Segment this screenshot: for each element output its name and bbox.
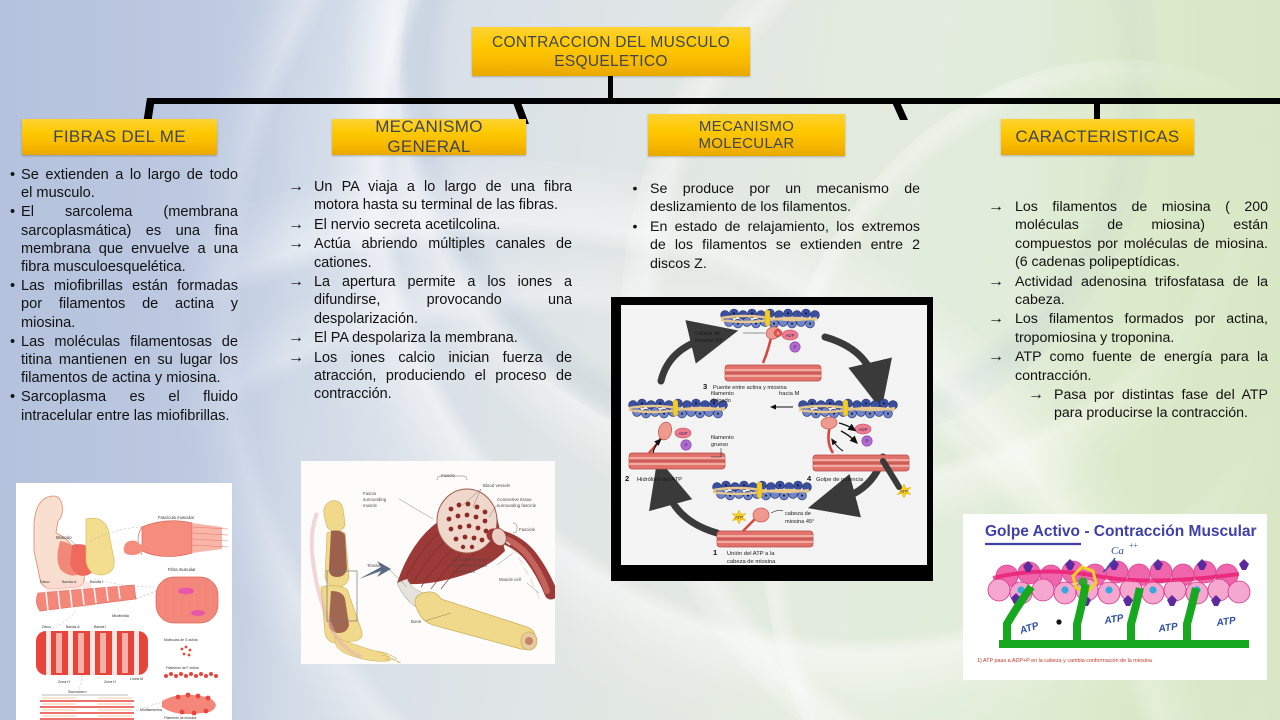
svg-text:++: ++ bbox=[1129, 541, 1139, 550]
arrow-icon: → bbox=[988, 273, 1015, 310]
svg-text:Fibra muscular: Fibra muscular bbox=[168, 567, 196, 572]
figure-cross-bridge-cycle: ATP ADP P A cabeza de miosina 90° 3 Puen… bbox=[611, 297, 933, 581]
svg-text:ADP: ADP bbox=[858, 427, 867, 432]
svg-text:muscle: muscle bbox=[363, 503, 377, 508]
svg-text:Disco: Disco bbox=[42, 625, 51, 629]
svg-text:P: P bbox=[793, 345, 796, 350]
bullet-glyph: • bbox=[620, 180, 650, 217]
svg-text:grueso: grueso bbox=[711, 442, 728, 448]
svg-text:Línea M: Línea M bbox=[130, 677, 143, 681]
list-item: →Los iones calcio inician fuerza de atra… bbox=[288, 349, 572, 404]
bullet-glyph: • bbox=[4, 388, 21, 424]
column-fibras: •Se extienden a lo largo de todo el musc… bbox=[4, 166, 238, 426]
list-item-text: Los filamentos de miosina ( 200 molécula… bbox=[1015, 198, 1268, 272]
bullet-glyph: • bbox=[4, 203, 21, 276]
svg-text:A: A bbox=[777, 331, 780, 336]
bullet-list-mecanismo-molecular: •Se produce por un mecanismo de deslizam… bbox=[620, 180, 920, 273]
branch-header-fibras[interactable]: FIBRAS DEL ME bbox=[22, 119, 217, 155]
svg-text:Músculo: Músculo bbox=[56, 535, 72, 540]
list-item-text: El nervio secreta acetilcolina. bbox=[314, 216, 572, 234]
bullet-list-caracteristicas: →Los filamentos de miosina ( 200 molécul… bbox=[988, 198, 1268, 423]
connector-bus bbox=[148, 98, 1280, 104]
branch-header-mecanismo-molecular-label: MECANISMO MOLECULAR bbox=[698, 118, 794, 152]
svg-text:Fascia: Fascia bbox=[363, 491, 376, 496]
bullet-glyph: • bbox=[620, 218, 650, 273]
bullet-glyph: • bbox=[4, 277, 21, 332]
column-caracteristicas: →Los filamentos de miosina ( 200 molécul… bbox=[988, 198, 1268, 424]
list-item: →Actividad adenosina trifosfatasa de la … bbox=[988, 273, 1268, 310]
list-item: →ATP como fuente de energía para la cont… bbox=[988, 348, 1268, 385]
svg-text:Miofilamentos: Miofilamentos bbox=[140, 708, 162, 712]
list-item-text: Pasa por distintas fase del ATP para pro… bbox=[1054, 386, 1268, 423]
svg-text:Tendon: Tendon bbox=[367, 563, 382, 568]
arrow-icon: → bbox=[988, 198, 1015, 272]
list-item: •Se extienden a lo largo de todo el musc… bbox=[4, 166, 238, 202]
list-item-text: El sarcolema (membrana sarcoplasmática) … bbox=[21, 203, 238, 276]
mecmol-line-1: MECANISMO bbox=[699, 118, 794, 135]
mecmol-line-2: MOLECULAR bbox=[698, 135, 794, 152]
list-item-text: Sarcoplasma es el fluido intracelular en… bbox=[21, 388, 238, 424]
svg-text:Muscle cell: Muscle cell bbox=[499, 577, 521, 582]
arrow-icon: → bbox=[988, 310, 1015, 347]
list-item: •En estado de relajamiento, los extremos… bbox=[620, 218, 920, 273]
svg-text:Miofibrilla: Miofibrilla bbox=[112, 613, 130, 618]
list-item-text: En estado de relajamiento, los extremos … bbox=[650, 218, 920, 273]
list-item: →El nervio secreta acetilcolina. bbox=[288, 216, 572, 234]
svg-text:Connective tissue: Connective tissue bbox=[453, 557, 488, 562]
svg-text:miosina 90°: miosina 90° bbox=[695, 338, 723, 344]
list-item-text: Los iones calcio inician fuerza de atrac… bbox=[314, 349, 572, 404]
list-item-text: Las miofibrillas están formadas por fila… bbox=[21, 277, 238, 332]
arrow-icon: → bbox=[288, 349, 314, 404]
list-item: →La apertura permite a los iones a difun… bbox=[288, 273, 572, 328]
list-item: →Un PA viaja a lo largo de una fibra mot… bbox=[288, 178, 572, 215]
list-item: •El sarcolema (membrana sarcoplasmática)… bbox=[4, 203, 238, 276]
list-item-text: El PA despolariza la membrana. bbox=[314, 329, 572, 347]
svg-text:surrounding each: surrounding each bbox=[453, 563, 487, 568]
list-item-text: Se extienden a lo largo de todo el muscu… bbox=[21, 166, 238, 202]
svg-text:P: P bbox=[684, 443, 687, 448]
svg-text:muscle cell: muscle cell bbox=[453, 569, 475, 574]
list-item-text: La apertura permite a los iones a difund… bbox=[314, 273, 572, 328]
svg-text:ADP: ADP bbox=[678, 431, 687, 436]
list-item: →Los filamentos formados por actina, tro… bbox=[988, 310, 1268, 347]
svg-text:Moléculas de G actina: Moléculas de G actina bbox=[164, 638, 198, 642]
svg-text:Hidrólisis del ATP: Hidrólisis del ATP bbox=[637, 477, 682, 483]
svg-text:Zona H: Zona H bbox=[58, 680, 70, 684]
branch-header-mecanismo-molecular[interactable]: MECANISMO MOLECULAR bbox=[648, 114, 845, 156]
figure-golpe-activo: Golpe Activo - Contracción Muscular bbox=[963, 514, 1267, 680]
list-item: →Actúa abriendo múltiples canales de cat… bbox=[288, 235, 572, 272]
title-text: CONTRACCION DEL MUSCULO ESQUELETICO bbox=[480, 33, 742, 71]
muscle-connective-tissue-diagram: muscle Blood vessels Fasciasurroundingmu… bbox=[301, 461, 555, 664]
list-item-text: Actúa abriendo múltiples canales de cati… bbox=[314, 235, 572, 272]
svg-text:muscle: muscle bbox=[441, 473, 455, 478]
svg-text:delgado: delgado bbox=[711, 398, 731, 404]
svg-text:filamento: filamento bbox=[711, 391, 734, 397]
svg-text:Golpe de potencia: Golpe de potencia bbox=[816, 477, 864, 483]
list-item: →El PA despolariza la membrana. bbox=[288, 329, 572, 347]
bullet-glyph: • bbox=[4, 333, 21, 388]
muscle-organization-diagram: Músculo Fascículo muscular Fibra muscula… bbox=[16, 483, 232, 720]
svg-text:Ca: Ca bbox=[1111, 545, 1124, 557]
cross-bridge-cycle-diagram: ATP ADP P A cabeza de miosina 90° 3 Puen… bbox=[621, 305, 927, 565]
svg-text:Fascículo muscular: Fascículo muscular bbox=[158, 515, 195, 520]
svg-text:P: P bbox=[865, 439, 868, 444]
svg-text:surrounding: surrounding bbox=[363, 497, 387, 502]
column-mecanismo-molecular: •Se produce por un mecanismo de deslizam… bbox=[620, 180, 920, 274]
list-item: •Las miofibrillas están formadas por fil… bbox=[4, 277, 238, 332]
figure-muscle-connective-tissue: muscle Blood vessels Fasciasurroundingmu… bbox=[301, 461, 555, 664]
cross-bridge-inner: ATP ADP P A cabeza de miosina 90° 3 Puen… bbox=[621, 305, 927, 565]
title-box: CONTRACCION DEL MUSCULO ESQUELETICO bbox=[472, 27, 750, 76]
list-item-text: Los filamentos formados por actina, trop… bbox=[1015, 310, 1268, 347]
list-item-text: ATP como fuente de energía para la contr… bbox=[1015, 348, 1268, 385]
arrow-icon: → bbox=[288, 329, 314, 347]
svg-text:miosina 45°: miosina 45° bbox=[785, 519, 814, 525]
svg-text:Zona H: Zona H bbox=[104, 680, 116, 684]
golpe-activo-diagram: Golpe Activo - Contracción Muscular bbox=[963, 514, 1267, 680]
list-item: →Los filamentos de miosina ( 200 molécul… bbox=[988, 198, 1268, 272]
figure-muscle-organization: Músculo Fascículo muscular Fibra muscula… bbox=[16, 483, 232, 720]
list-item-text: Un PA viaja a lo largo de una fibra moto… bbox=[314, 178, 572, 215]
svg-text:Banda A: Banda A bbox=[66, 625, 80, 629]
branch-header-fibras-label: FIBRAS DEL ME bbox=[53, 127, 186, 147]
list-item-text: Se produce por un mecanismo de deslizami… bbox=[650, 180, 920, 217]
bullet-list-fibras: •Se extienden a lo largo de todo el musc… bbox=[4, 166, 238, 425]
list-item: •Las moléculas filamentosas de titina ma… bbox=[4, 333, 238, 388]
svg-text:Connective tissue: Connective tissue bbox=[497, 497, 532, 502]
column-mecanismo-general: →Un PA viaja a lo largo de una fibra mot… bbox=[288, 178, 572, 405]
branch-header-mecanismo-general[interactable]: MECANISMO GENERAL bbox=[332, 119, 526, 155]
svg-text:3: 3 bbox=[703, 382, 707, 391]
list-item: •Se produce por un mecanismo de deslizam… bbox=[620, 180, 920, 217]
arrow-icon: → bbox=[988, 348, 1015, 385]
list-item-text: Actividad adenosina trifosfatasa de la c… bbox=[1015, 273, 1268, 310]
svg-text:Banda A: Banda A bbox=[62, 580, 77, 584]
svg-text:Blood vessels: Blood vessels bbox=[483, 483, 511, 488]
svg-text:Filamento de F actina: Filamento de F actina bbox=[166, 666, 199, 670]
svg-text:Filamento de miosina: Filamento de miosina bbox=[164, 716, 196, 720]
branch-header-caracteristicas[interactable]: CARACTERISTICAS bbox=[1001, 119, 1194, 155]
svg-text:cabeza de: cabeza de bbox=[785, 511, 811, 517]
arrow-icon: → bbox=[288, 178, 314, 215]
list-item: •Sarcoplasma es el fluido intracelular e… bbox=[4, 388, 238, 424]
svg-text:hacia M: hacia M bbox=[779, 391, 799, 397]
svg-text:Fascicle: Fascicle bbox=[519, 527, 536, 532]
list-item-sub: →Pasa por distintas fase del ATP para pr… bbox=[1028, 386, 1268, 423]
branch-header-mecanismo-general-label: MECANISMO GENERAL bbox=[332, 117, 526, 157]
svg-text:surrounding fascicle: surrounding fascicle bbox=[497, 503, 537, 508]
figure-footnote: 1) ATP pasa a ADP+P en la cabeza y cambi… bbox=[977, 658, 1152, 664]
arrow-icon: → bbox=[288, 273, 314, 328]
svg-text:Sarcómero: Sarcómero bbox=[68, 690, 87, 694]
list-item-text: Las moléculas filamentosas de titina man… bbox=[21, 333, 238, 388]
svg-text:Banda I: Banda I bbox=[94, 625, 106, 629]
svg-text:cabeza de: cabeza de bbox=[695, 331, 720, 337]
svg-text:Disco: Disco bbox=[40, 580, 50, 584]
bullet-list-mecanismo-general: →Un PA viaja a lo largo de una fibra mot… bbox=[288, 178, 572, 404]
svg-text:cabeza de miosina: cabeza de miosina bbox=[727, 559, 776, 565]
arrow-icon: → bbox=[288, 235, 314, 272]
bullet-glyph: • bbox=[4, 166, 21, 202]
svg-text:ADP: ADP bbox=[785, 333, 794, 338]
figure-title: Golpe Activo - Contracción Muscular bbox=[985, 523, 1257, 540]
svg-text:2: 2 bbox=[625, 474, 629, 483]
svg-text:Bone: Bone bbox=[411, 619, 422, 624]
svg-text:filamento: filamento bbox=[711, 435, 734, 441]
arrow-icon: → bbox=[1028, 386, 1054, 423]
svg-text:Unión del ATP a la: Unión del ATP a la bbox=[727, 551, 775, 557]
branch-header-caracteristicas-label: CARACTERISTICAS bbox=[1015, 127, 1179, 147]
arrow-icon: → bbox=[288, 216, 314, 234]
svg-text:Banda I: Banda I bbox=[90, 580, 103, 584]
